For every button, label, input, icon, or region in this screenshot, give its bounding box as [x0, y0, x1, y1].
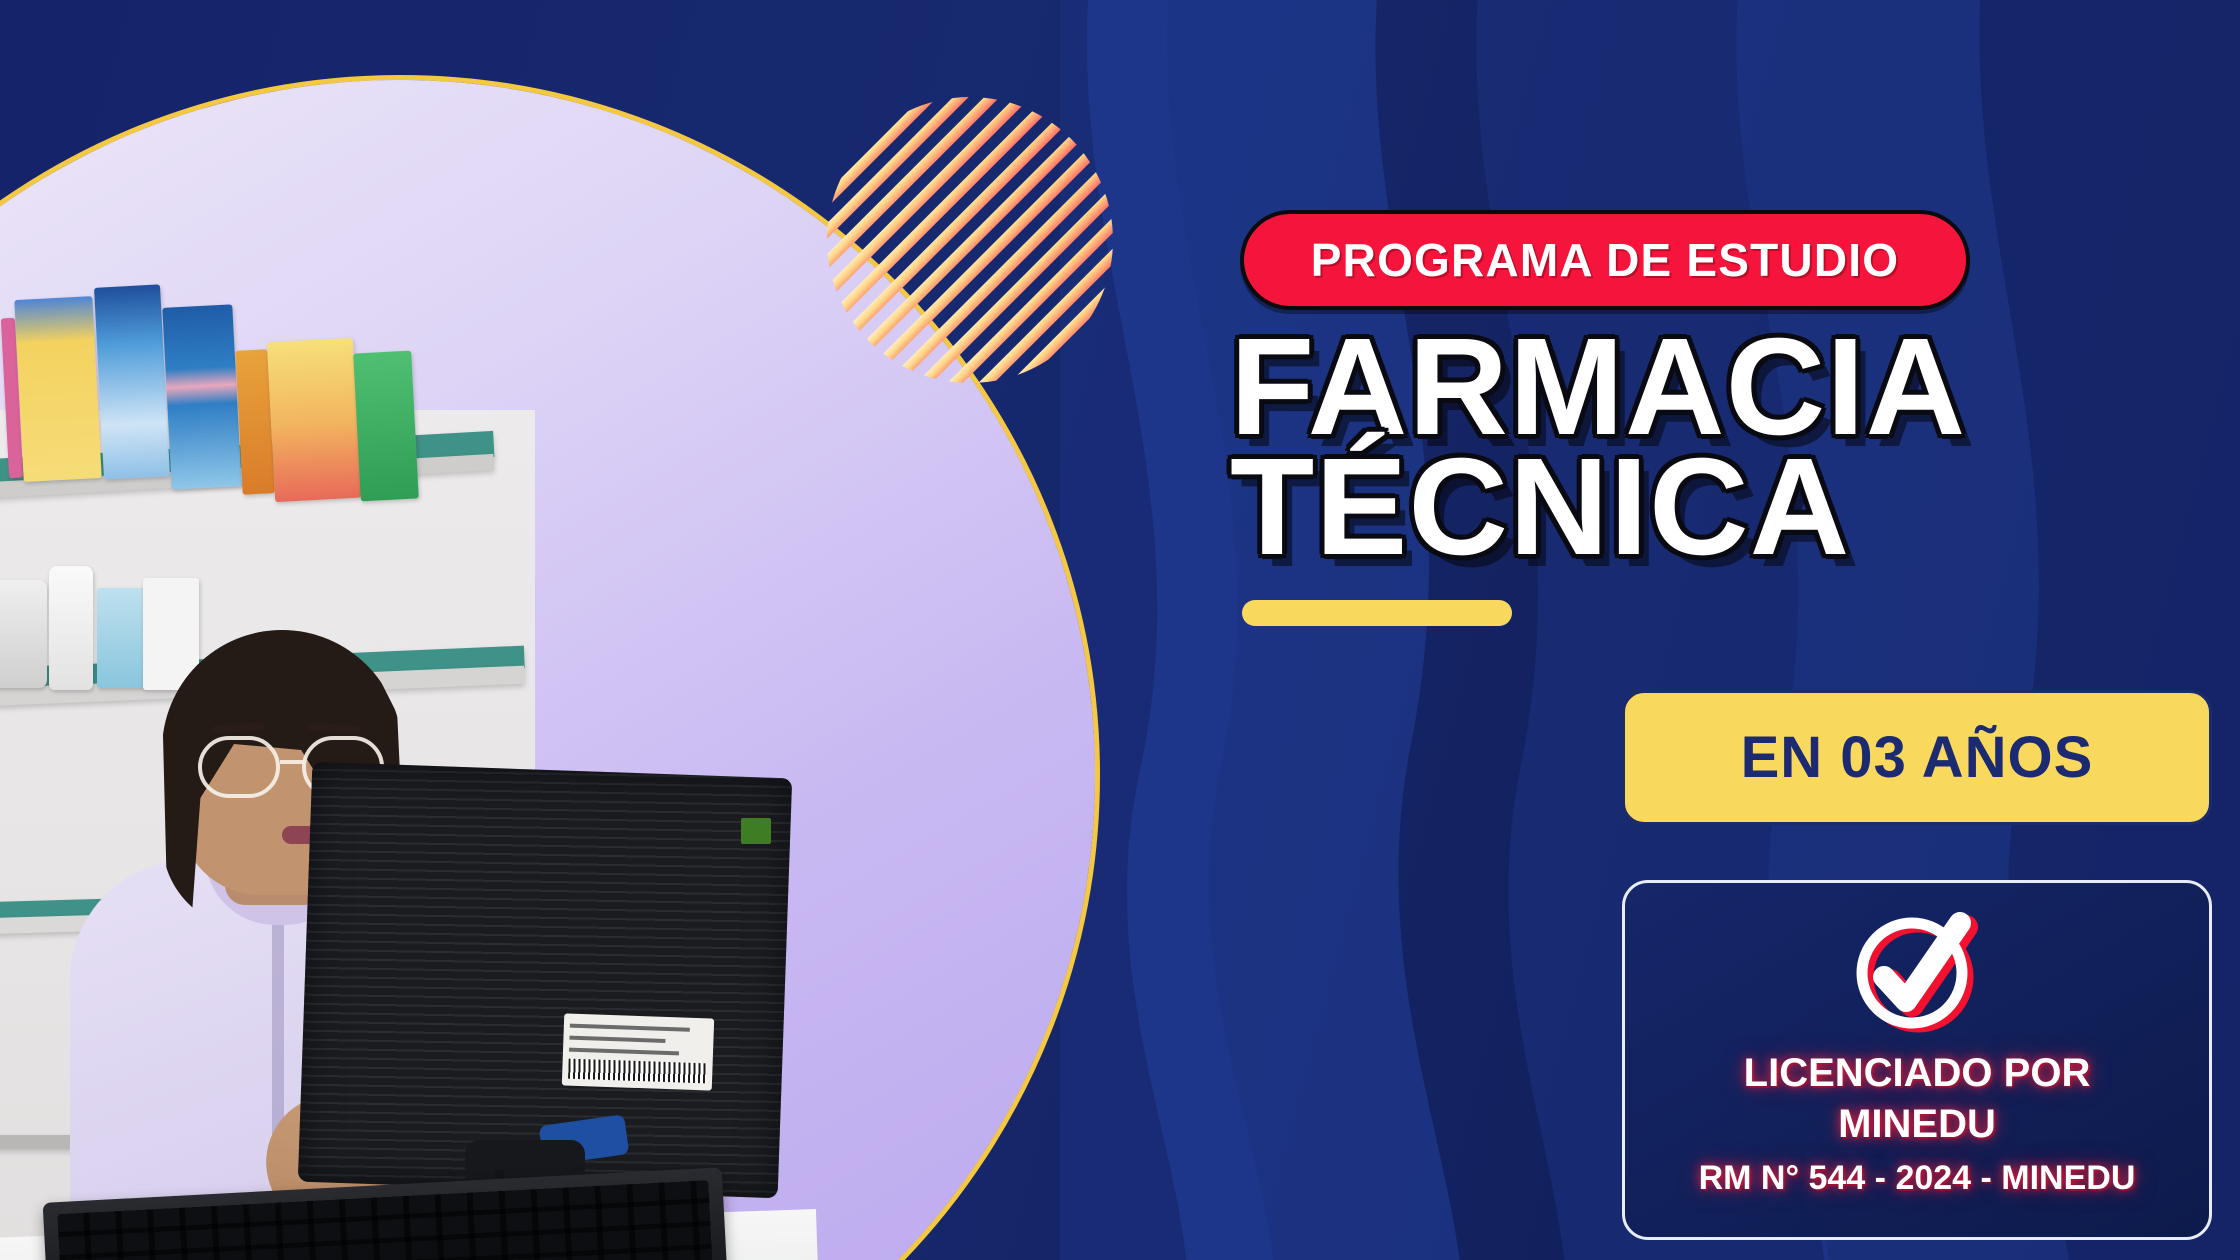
page-title-line2: TÉCNICA	[1230, 438, 2240, 576]
product-box	[353, 351, 419, 502]
license-line-1: LICENCIADO POR	[1744, 1051, 2091, 1096]
program-badge[interactable]: PROGRAMA DE ESTUDIO	[1240, 210, 1970, 310]
program-badge-label: PROGRAMA DE ESTUDIO	[1311, 233, 1899, 287]
title-underline	[1242, 600, 1512, 626]
computer-monitor	[305, 770, 785, 1190]
license-resolution-number: RM N° 544 - 2024 - MINEDU	[1699, 1159, 2136, 1197]
license-card: LICENCIADO POR MINEDU RM N° 544 - 2024 -…	[1622, 880, 2212, 1240]
duration-badge-label: EN 03 AÑOS	[1741, 724, 2094, 791]
monitor-spec-label	[562, 1013, 714, 1090]
barcode	[568, 1059, 707, 1084]
duration-badge[interactable]: EN 03 AÑOS	[1622, 690, 2212, 825]
product-box	[0, 580, 47, 688]
striped-circle-decoration	[825, 95, 1115, 385]
green-sticker	[741, 818, 771, 844]
lens-left	[198, 736, 280, 798]
product-box	[94, 284, 170, 479]
check-circle-icon	[1842, 905, 1992, 1045]
product-box	[14, 296, 101, 482]
product-box	[267, 338, 361, 502]
product-box	[162, 304, 241, 489]
glasses-bridge	[280, 760, 304, 764]
license-line-2: MINEDU	[1838, 1102, 1996, 1147]
content-column: PROGRAMA DE ESTUDIO FARMACIA TÉCNICA EN …	[1230, 0, 2240, 1260]
poster-canvas: PROGRAMA DE ESTUDIO FARMACIA TÉCNICA EN …	[0, 0, 2240, 1260]
